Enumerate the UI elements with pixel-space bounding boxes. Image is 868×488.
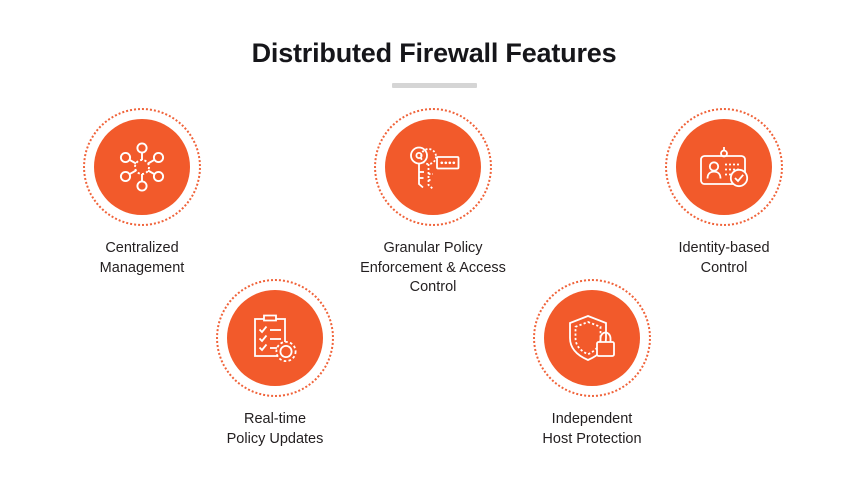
icon-badge: [216, 279, 334, 397]
feature-independent-host-protection[interactable]: Independent Host Protection: [492, 279, 692, 449]
icon-disc: [385, 119, 481, 215]
icon-disc: [227, 290, 323, 386]
network-hub-icon: [116, 141, 168, 193]
keys-password-icon: [406, 144, 460, 190]
feature-real-time-policy-updates[interactable]: Real-time Policy Updates: [175, 279, 375, 449]
title-block: Distributed Firewall Features: [0, 36, 868, 88]
feature-label: Identity-based Control: [624, 239, 824, 278]
checklist-seal-icon: [250, 312, 300, 364]
feature-label: Real-time Policy Updates: [175, 410, 375, 449]
shield-lock-icon: [566, 313, 618, 363]
feature-label: Centralized Management: [42, 239, 242, 278]
icon-disc: [544, 290, 640, 386]
icon-badge: [374, 108, 492, 226]
icon-badge: [665, 108, 783, 226]
icon-disc: [94, 119, 190, 215]
feature-centralized-management[interactable]: Centralized Management: [42, 108, 242, 278]
page-title: Distributed Firewall Features: [0, 36, 868, 70]
icon-disc: [676, 119, 772, 215]
feature-granular-policy-enforcement[interactable]: Granular Policy Enforcement & Access Con…: [333, 108, 533, 298]
icon-badge: [83, 108, 201, 226]
icon-badge: [533, 279, 651, 397]
title-divider: [392, 83, 477, 88]
id-badge-check-icon: [697, 143, 751, 191]
infographic-canvas: Distributed Firewall Features: [0, 0, 868, 488]
feature-identity-based-control[interactable]: Identity-based Control: [624, 108, 824, 278]
feature-label: Independent Host Protection: [492, 410, 692, 449]
